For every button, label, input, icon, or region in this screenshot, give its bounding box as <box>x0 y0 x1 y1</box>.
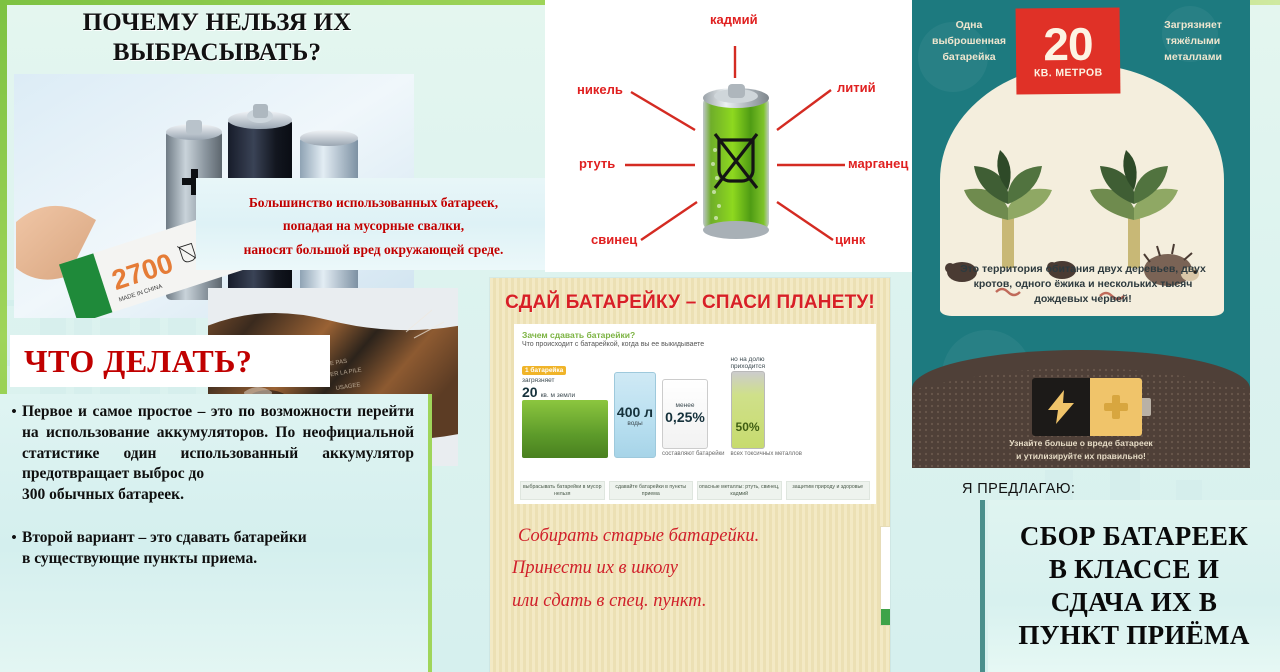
page-title: ПОЧЕМУ НЕЛЬЗЯ ИХ ВЫБРАСЫВАТЬ? <box>42 2 392 74</box>
what-to-do-heading: ЧТО ДЕЛАТЬ? <box>10 335 330 387</box>
proposal-line-3: СДАЧА ИХ В <box>1051 586 1217 619</box>
title-line-2: ВЫБРАСЫВАТЬ? <box>113 38 321 69</box>
presentation-slide: ПОЧЕМУ НЕЛЬЗЯ ИХ ВЫБРАСЫВАТЬ? <box>0 0 1280 672</box>
handwriting-line-3: или сдать в спец. пункт. <box>512 585 880 617</box>
eco-infographic: Одна выброшенная батарейка Загрязняет тя… <box>912 0 1250 468</box>
list-item-text: Первое и самое простое – это по возможно… <box>22 402 414 506</box>
waste-caption-line-3: наносят большой вред окружающей среде. <box>206 238 541 262</box>
water-cylinder-illustration: 400 л воды <box>614 372 656 458</box>
handwriting-line-1: Собирать старые батарейки. <box>512 520 880 552</box>
list-item: • Второй вариант – это сдавать батарейки… <box>6 528 414 570</box>
plus-icon <box>1103 394 1129 420</box>
infocard-footer: выбрасывать батарейки в мусор нельзя сда… <box>520 481 870 500</box>
stat-share: менее 0,25% составляют батарейки <box>662 379 725 458</box>
stat-unit-water: воды <box>617 420 653 427</box>
list-item: • Первое и самое простое – это по возмож… <box>6 402 414 506</box>
battery-mascot-icon <box>880 526 890 626</box>
battery-mascot-illustration <box>881 527 890 626</box>
battery-half-icon <box>1032 378 1148 436</box>
eco-right-text: Загрязняет тяжёлыми металлами <box>1144 18 1242 65</box>
battery-dark-half <box>1032 378 1090 436</box>
proposal-line-2: В КЛАССЕ И <box>1049 553 1219 586</box>
handwritten-action-note: Собирать старые батарейки. Принести их в… <box>512 520 880 617</box>
metal-label-tsink: цинк <box>835 232 865 247</box>
metal-label-marganets: марганец <box>848 156 908 171</box>
bullet-icon: • <box>6 528 22 548</box>
title-line-1: ПОЧЕМУ НЕЛЬЗЯ ИХ <box>83 8 352 39</box>
infocard-stats-row: 1 батарейка загрязняет 20 кв. м земли 40… <box>522 356 868 458</box>
stat-note-but-share: но на долю приходится <box>731 356 771 371</box>
proposal-line-4: ПУНКТ ПРИЁМА <box>1018 619 1249 652</box>
stat-unit-sqm: кв. м земли <box>541 392 576 399</box>
proposal-line-1: СБОР БАТАРЕЕК <box>1020 520 1248 553</box>
stat-caption-batteries: составляют батарейки <box>662 451 725 458</box>
stat-value-50pct: 50% <box>736 420 760 434</box>
stat-water: 400 л воды <box>614 372 656 458</box>
actions-list: • Первое и самое простое – это по возмож… <box>6 402 414 569</box>
share-cylinder-illustration: менее 0,25% <box>662 379 708 449</box>
waste-caption-line-1: Большинство использованных батареек, <box>206 191 541 215</box>
stat-value-20: 20 <box>522 384 538 400</box>
proposal-accent-bar <box>980 500 985 672</box>
eco-big-unit: КВ. МЕТРОВ <box>1034 66 1103 79</box>
battery-metals-diagram: кадмий никель литий ртуть марганец свине… <box>545 0 915 272</box>
footer-note-1: выбрасывать батарейки в мусор нельзя <box>520 481 605 500</box>
actions-list-box: • Первое и самое простое – это по возмож… <box>0 394 432 672</box>
save-planet-title: СДАЙ БАТАРЕЙКУ – СПАСИ ПЛАНЕТУ! <box>490 292 890 314</box>
stat-note-less-than: менее <box>665 402 705 409</box>
metal-label-kadmiy: кадмий <box>710 12 758 27</box>
footer-note-4: защитим природу и здоровье <box>786 481 871 500</box>
eco-hill-text: Это территория обитания двух деревьев, д… <box>956 262 1210 308</box>
stat-value-025: 0,25% <box>665 409 705 425</box>
stat-land: 1 батарейка загрязняет 20 кв. м земли <box>522 359 608 458</box>
eco-bottom-text: Узнайте больше о вреде батареек и утилиз… <box>936 437 1226 462</box>
handwriting-line-2: Принести их в школу <box>512 552 880 584</box>
list-item-body: Первое и самое простое – это по возможно… <box>22 403 414 482</box>
metal-label-nikel: никель <box>577 82 623 97</box>
eco-20-sqm-badge: 20 КВ. МЕТРОВ <box>1016 7 1121 94</box>
metal-label-rtut: ртуть <box>579 156 615 171</box>
list-item-lastline: 300 обычных батареек. <box>22 485 414 506</box>
battery-terminal-nub <box>1142 398 1151 416</box>
eco-bottom-line-1: Узнайте больше о вреде батареек <box>936 437 1226 449</box>
list-item-body: Второй вариант – это сдавать батарейки <box>22 529 307 546</box>
grass-illustration <box>522 400 608 458</box>
eco-big-number: 20 <box>1043 23 1093 66</box>
footer-note-3: опасные металлы: ртуть, свинец, кадмий <box>697 481 782 500</box>
eco-bottom-line-2: и утилизируйте их правильно! <box>936 450 1226 462</box>
toxic-cylinder-illustration: 50% <box>731 371 765 449</box>
battery-light-half <box>1090 378 1142 436</box>
stat-badge-1-battery: 1 батарейка <box>522 366 566 375</box>
waste-caption-box: Большинство использованных батареек, поп… <box>196 178 551 270</box>
stat-caption-toxic: всех токсичных металлов <box>731 451 802 458</box>
metal-label-litiy: литий <box>837 80 876 95</box>
waste-caption-line-2: попадая на мусорные свалки, <box>206 214 541 238</box>
footer-note-2: сдавайте батарейки в пункты приема <box>609 481 694 500</box>
save-planet-panel: СДАЙ БАТАРЕЙКУ – СПАСИ ПЛАНЕТУ! Зачем сд… <box>490 278 890 672</box>
eco-left-text: Одна выброшенная батарейка <box>920 18 1018 65</box>
stat-toxic: но на долю приходится 50% всех токсичных… <box>731 356 802 458</box>
metal-label-svinets: свинец <box>591 232 637 247</box>
stat-note-pollutes: загрязняет <box>522 377 608 384</box>
list-item-text: Второй вариант – это сдавать батарейки в… <box>22 528 414 570</box>
infocard-subheading: Что происходит с батарейкой, когда вы ее… <box>522 341 868 348</box>
bullet-icon: • <box>6 402 22 422</box>
infocard-heading: Зачем сдавать батарейки? <box>522 330 868 340</box>
stat-value-400l: 400 л <box>617 404 653 420</box>
lightning-bolt-icon <box>1046 390 1076 424</box>
why-recycle-infocard: Зачем сдавать батарейки? Что происходит … <box>514 324 876 504</box>
list-item-lastline: в существующие пункты приема. <box>22 549 414 570</box>
proposal-label: Я ПРЕДЛАГАЮ: <box>962 478 1162 500</box>
proposal-box: СБОР БАТАРЕЕК В КЛАССЕ И СДАЧА ИХ В ПУНК… <box>988 500 1280 672</box>
